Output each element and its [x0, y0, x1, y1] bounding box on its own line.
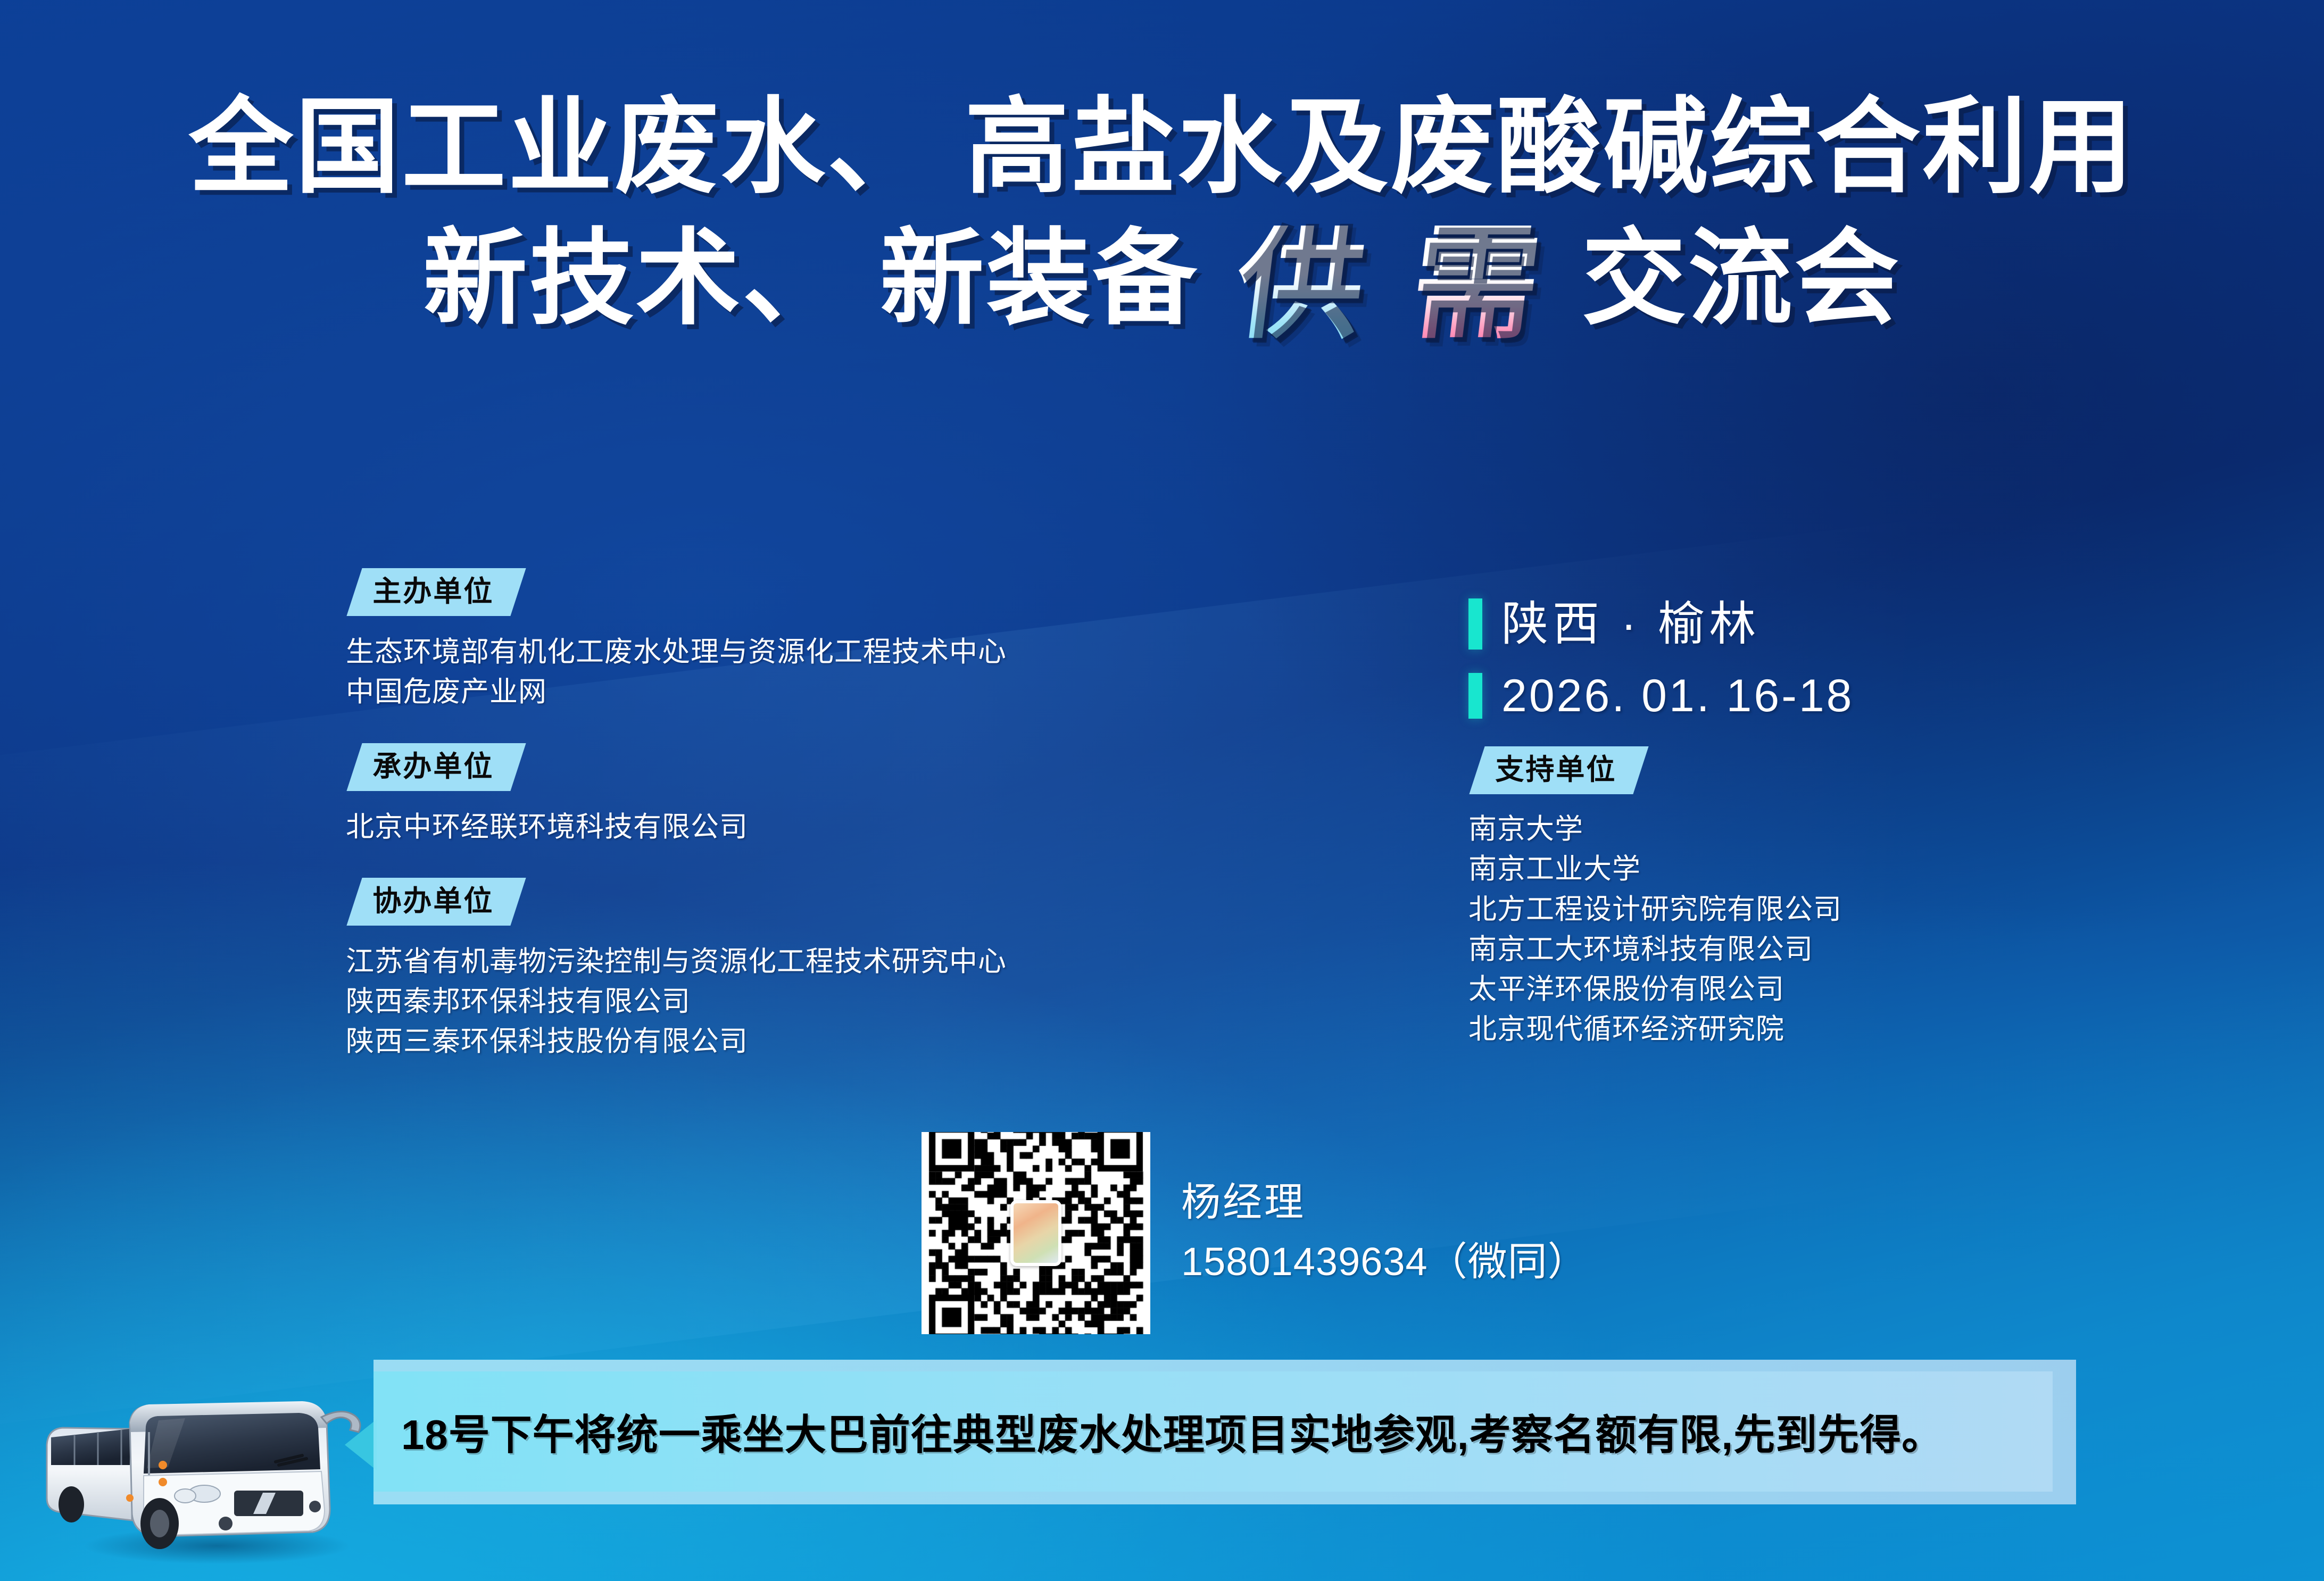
list-item: 南京工大环境科技有限公司	[1468, 929, 2267, 969]
list-item: 太平洋环保股份有限公司	[1468, 969, 2267, 1009]
support-list: 南京大学 南京工业大学 北方工程设计研究院有限公司 南京工大环境科技有限公司 太…	[1468, 809, 2267, 1050]
event-info-column: 陕西 · 榆林 2026. 01. 16-18 支持单位 南京大学 南京工业大学…	[1468, 598, 2267, 1050]
badge-coorganizer: 协办单位	[346, 878, 526, 926]
title-line-2-part-1: 新技术、 新装备	[423, 224, 1199, 334]
poster-root: 全国工业废水、 高盐水及废酸碱综合利用 新技术、 新装备 供 需 交流会 主办单…	[0, 0, 2324, 1581]
coorganizer-list: 江苏省有机毒物污染控制与资源化工程技术研究中心 陕西秦邦环保科技有限公司 陕西三…	[346, 942, 1250, 1062]
badge-organizer-label: 承办单位	[372, 752, 494, 781]
title-line-2-part-2: 交流会	[1582, 224, 1901, 334]
list-item: 北京中环经联环境科技有限公司	[346, 807, 1250, 847]
badge-coorganizer-label: 协办单位	[372, 887, 494, 916]
qr-avatar	[1010, 1200, 1061, 1266]
list-item: 陕西三秦环保科技股份有限公司	[346, 1021, 1250, 1061]
badge-support: 支持单位	[1469, 746, 1648, 794]
list-item: 陕西秦邦环保科技有限公司	[346, 981, 1250, 1021]
list-item: 南京工业大学	[1468, 849, 2267, 889]
wechat-qr-code-icon[interactable]	[922, 1132, 1150, 1334]
badge-row-support: 支持单位	[1477, 746, 2267, 794]
badge-support-label: 支持单位	[1495, 755, 1616, 784]
list-item: 江苏省有机毒物污染控制与资源化工程技术研究中心	[346, 942, 1250, 981]
title-brush-char-xu: 需	[1403, 226, 1551, 339]
badge-organizer: 承办单位	[346, 743, 526, 791]
badge-host-label: 主办单位	[372, 577, 494, 606]
badge-row-organizer: 承办单位	[354, 743, 1250, 791]
accent-bar-icon	[1468, 673, 1482, 719]
list-item: 北方工程设计研究院有限公司	[1468, 889, 2267, 929]
banner-arrow-icon	[345, 1419, 377, 1470]
support-block: 支持单位 南京大学 南京工业大学 北方工程设计研究院有限公司 南京工大环境科技有…	[1468, 746, 2267, 1050]
notice-banner: 18号下午将统一乘坐大巴前往典型废水处理项目实地参观,考察名额有限,先到先得。	[373, 1371, 2053, 1492]
list-item: 生态环境部有机化工废水处理与资源化工程技术中心	[346, 632, 1250, 672]
organizer-block-host: 主办单位 生态环境部有机化工废水处理与资源化工程技术中心 中国危废产业网	[346, 568, 1250, 712]
event-location: 陕西 · 榆林	[1501, 601, 1760, 647]
date-row: 2026. 01. 16-18	[1468, 673, 2267, 719]
list-item: 北京现代循环经济研究院	[1468, 1009, 2267, 1049]
coach-bus-icon	[26, 1322, 398, 1572]
title-line-1: 全国工业废水、 高盐水及废酸碱综合利用	[0, 94, 2324, 201]
organizer-list: 北京中环经联环境科技有限公司	[346, 807, 1250, 847]
host-list: 生态环境部有机化工废水处理与资源化工程技术中心 中国危废产业网	[346, 632, 1250, 712]
poster-title: 全国工业废水、 高盐水及废酸碱综合利用 新技术、 新装备 供 需 交流会	[0, 94, 2324, 334]
contact-block: 杨经理 15801439634（微同）	[922, 1132, 1588, 1334]
badge-row-host: 主办单位	[354, 568, 1250, 616]
organizers-column: 主办单位 生态环境部有机化工废水处理与资源化工程技术中心 中国危废产业网 承办单…	[346, 568, 1250, 1093]
list-item: 南京大学	[1468, 809, 2267, 849]
organizer-block-coorganizer: 协办单位 江苏省有机毒物污染控制与资源化工程技术研究中心 陕西秦邦环保科技有限公…	[346, 878, 1250, 1062]
accent-bar-icon	[1468, 598, 1482, 650]
contact-details: 杨经理 15801439634（微同）	[1181, 1178, 1588, 1288]
badge-row-coorganizer: 协办单位	[354, 878, 1250, 926]
organizer-block-organizer: 承办单位 北京中环经联环境科技有限公司	[346, 743, 1250, 847]
location-row: 陕西 · 榆林	[1468, 598, 2267, 650]
contact-phone[interactable]: 15801439634（微同）	[1181, 1235, 1588, 1288]
title-line-2: 新技术、 新装备 供 需 交流会	[0, 214, 2324, 334]
contact-name: 杨经理	[1181, 1178, 1588, 1227]
event-date: 2026. 01. 16-18	[1501, 673, 1854, 719]
title-brush-char-gong: 供	[1227, 226, 1375, 339]
badge-host: 主办单位	[346, 568, 526, 616]
list-item: 中国危废产业网	[346, 672, 1250, 712]
notice-banner-text: 18号下午将统一乘坐大巴前往典型废水处理项目实地参观,考察名额有限,先到先得。	[401, 1402, 1944, 1461]
